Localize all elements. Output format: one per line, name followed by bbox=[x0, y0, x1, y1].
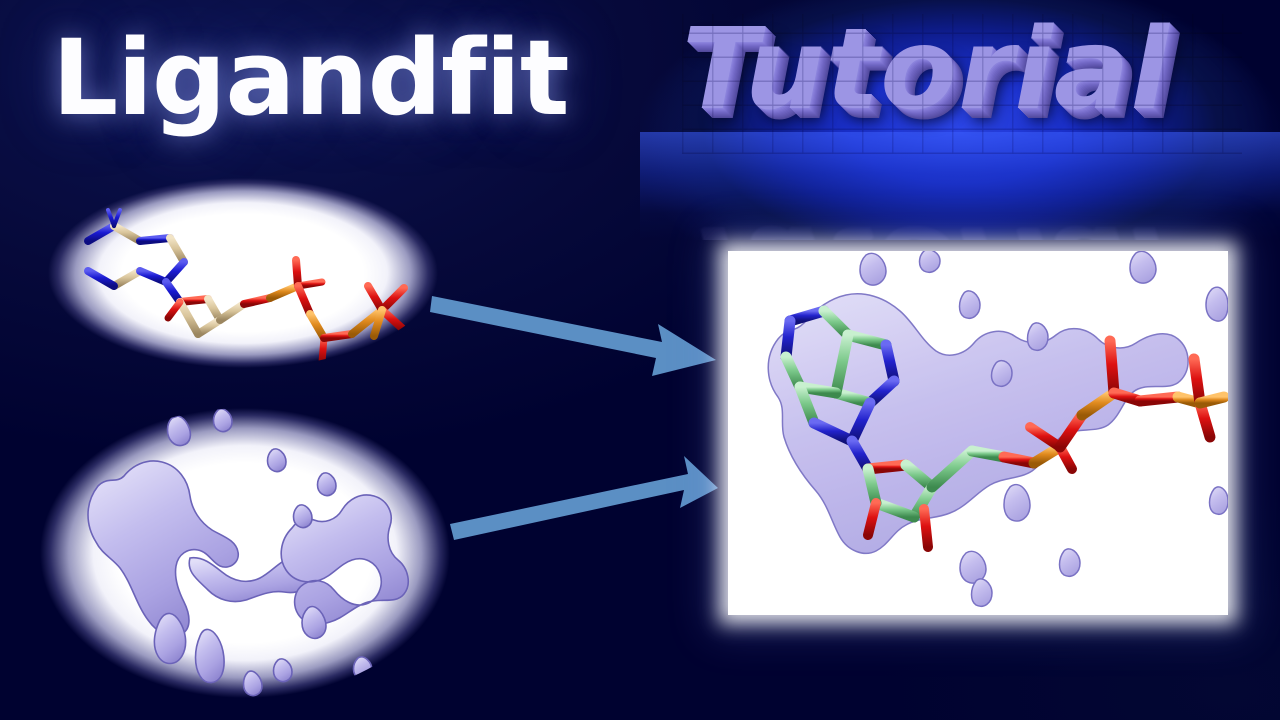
fitted-ligand-panel bbox=[728, 251, 1228, 615]
slide-canvas: Ligandfit Tutorial Tutorial bbox=[0, 0, 1280, 720]
electron-density-oval bbox=[40, 408, 450, 698]
arrow-ligand-to-result bbox=[430, 284, 720, 384]
ligand-model-render bbox=[48, 178, 438, 368]
ligand-in-density-svg bbox=[728, 251, 1228, 615]
density-isosurface-svg bbox=[40, 408, 450, 698]
tutorial-text: Tutorial bbox=[682, 14, 1170, 126]
atp-stick-model-svg bbox=[48, 178, 438, 368]
tutorial-text-reflection: Tutorial bbox=[680, 214, 1172, 240]
ligand-model-oval bbox=[48, 178, 438, 368]
density-map-render bbox=[40, 408, 450, 698]
fitted-ligand-render bbox=[728, 251, 1228, 615]
page-title: Ligandfit bbox=[52, 26, 569, 130]
tutorial-graphic: Tutorial Tutorial bbox=[640, 0, 1280, 240]
arrow-density-to-result bbox=[448, 452, 720, 548]
